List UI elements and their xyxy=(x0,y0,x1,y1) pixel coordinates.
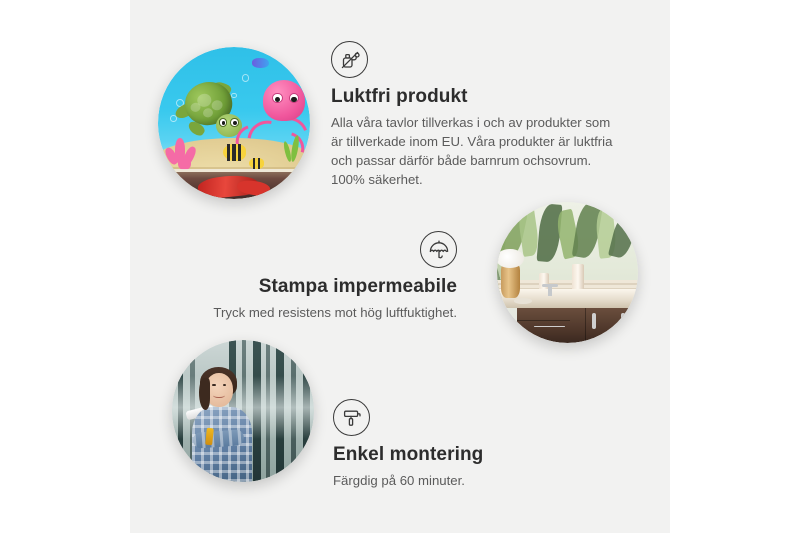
product-feature-infographic: Luktfri produkt Alla våra tavlor tillver… xyxy=(0,0,800,533)
striped-fish-large xyxy=(223,144,246,161)
woman-paint-roller-forest-circle xyxy=(172,340,314,482)
feature-title: Stampa impermeabile xyxy=(195,276,457,298)
feature-body: Alla våra tavlor tillverkas i och av pro… xyxy=(331,113,623,190)
feature-block-easy-install: Enkel montering Färgdig på 60 minuter. xyxy=(333,399,563,490)
underwater-scene-illustration xyxy=(158,47,310,199)
wood-vanity-cabinet xyxy=(517,308,638,343)
feature-title: Luktfri produkt xyxy=(331,86,623,108)
faucet xyxy=(548,284,552,297)
feature-title: Enkel montering xyxy=(333,444,563,466)
blue-fish xyxy=(252,58,269,69)
underwater-cartoon-mural-circle xyxy=(158,47,310,199)
feature-body: Tryck med resistens mot hög luftfuktighe… xyxy=(195,303,457,322)
feature-block-odourless: Luktfri produkt Alla våra tavlor tillver… xyxy=(331,41,623,189)
white-flowers xyxy=(497,249,524,269)
soap-dish xyxy=(514,298,532,304)
gold-vase xyxy=(501,264,519,298)
bathroom-tropical-wallpaper-circle xyxy=(497,202,638,343)
paint-roller-icon xyxy=(333,399,370,436)
no-fragrance-icon xyxy=(331,41,368,78)
feature-block-waterproof: Stampa impermeabile Tryck med resistens … xyxy=(195,231,457,322)
octopus-head xyxy=(263,80,306,121)
forest-woman-illustration xyxy=(172,340,314,482)
bathroom-scene-illustration xyxy=(497,202,638,343)
umbrella-icon xyxy=(420,231,457,268)
striped-fish-small xyxy=(249,158,264,169)
feature-body: Färgdig på 60 minuter. xyxy=(333,471,563,490)
